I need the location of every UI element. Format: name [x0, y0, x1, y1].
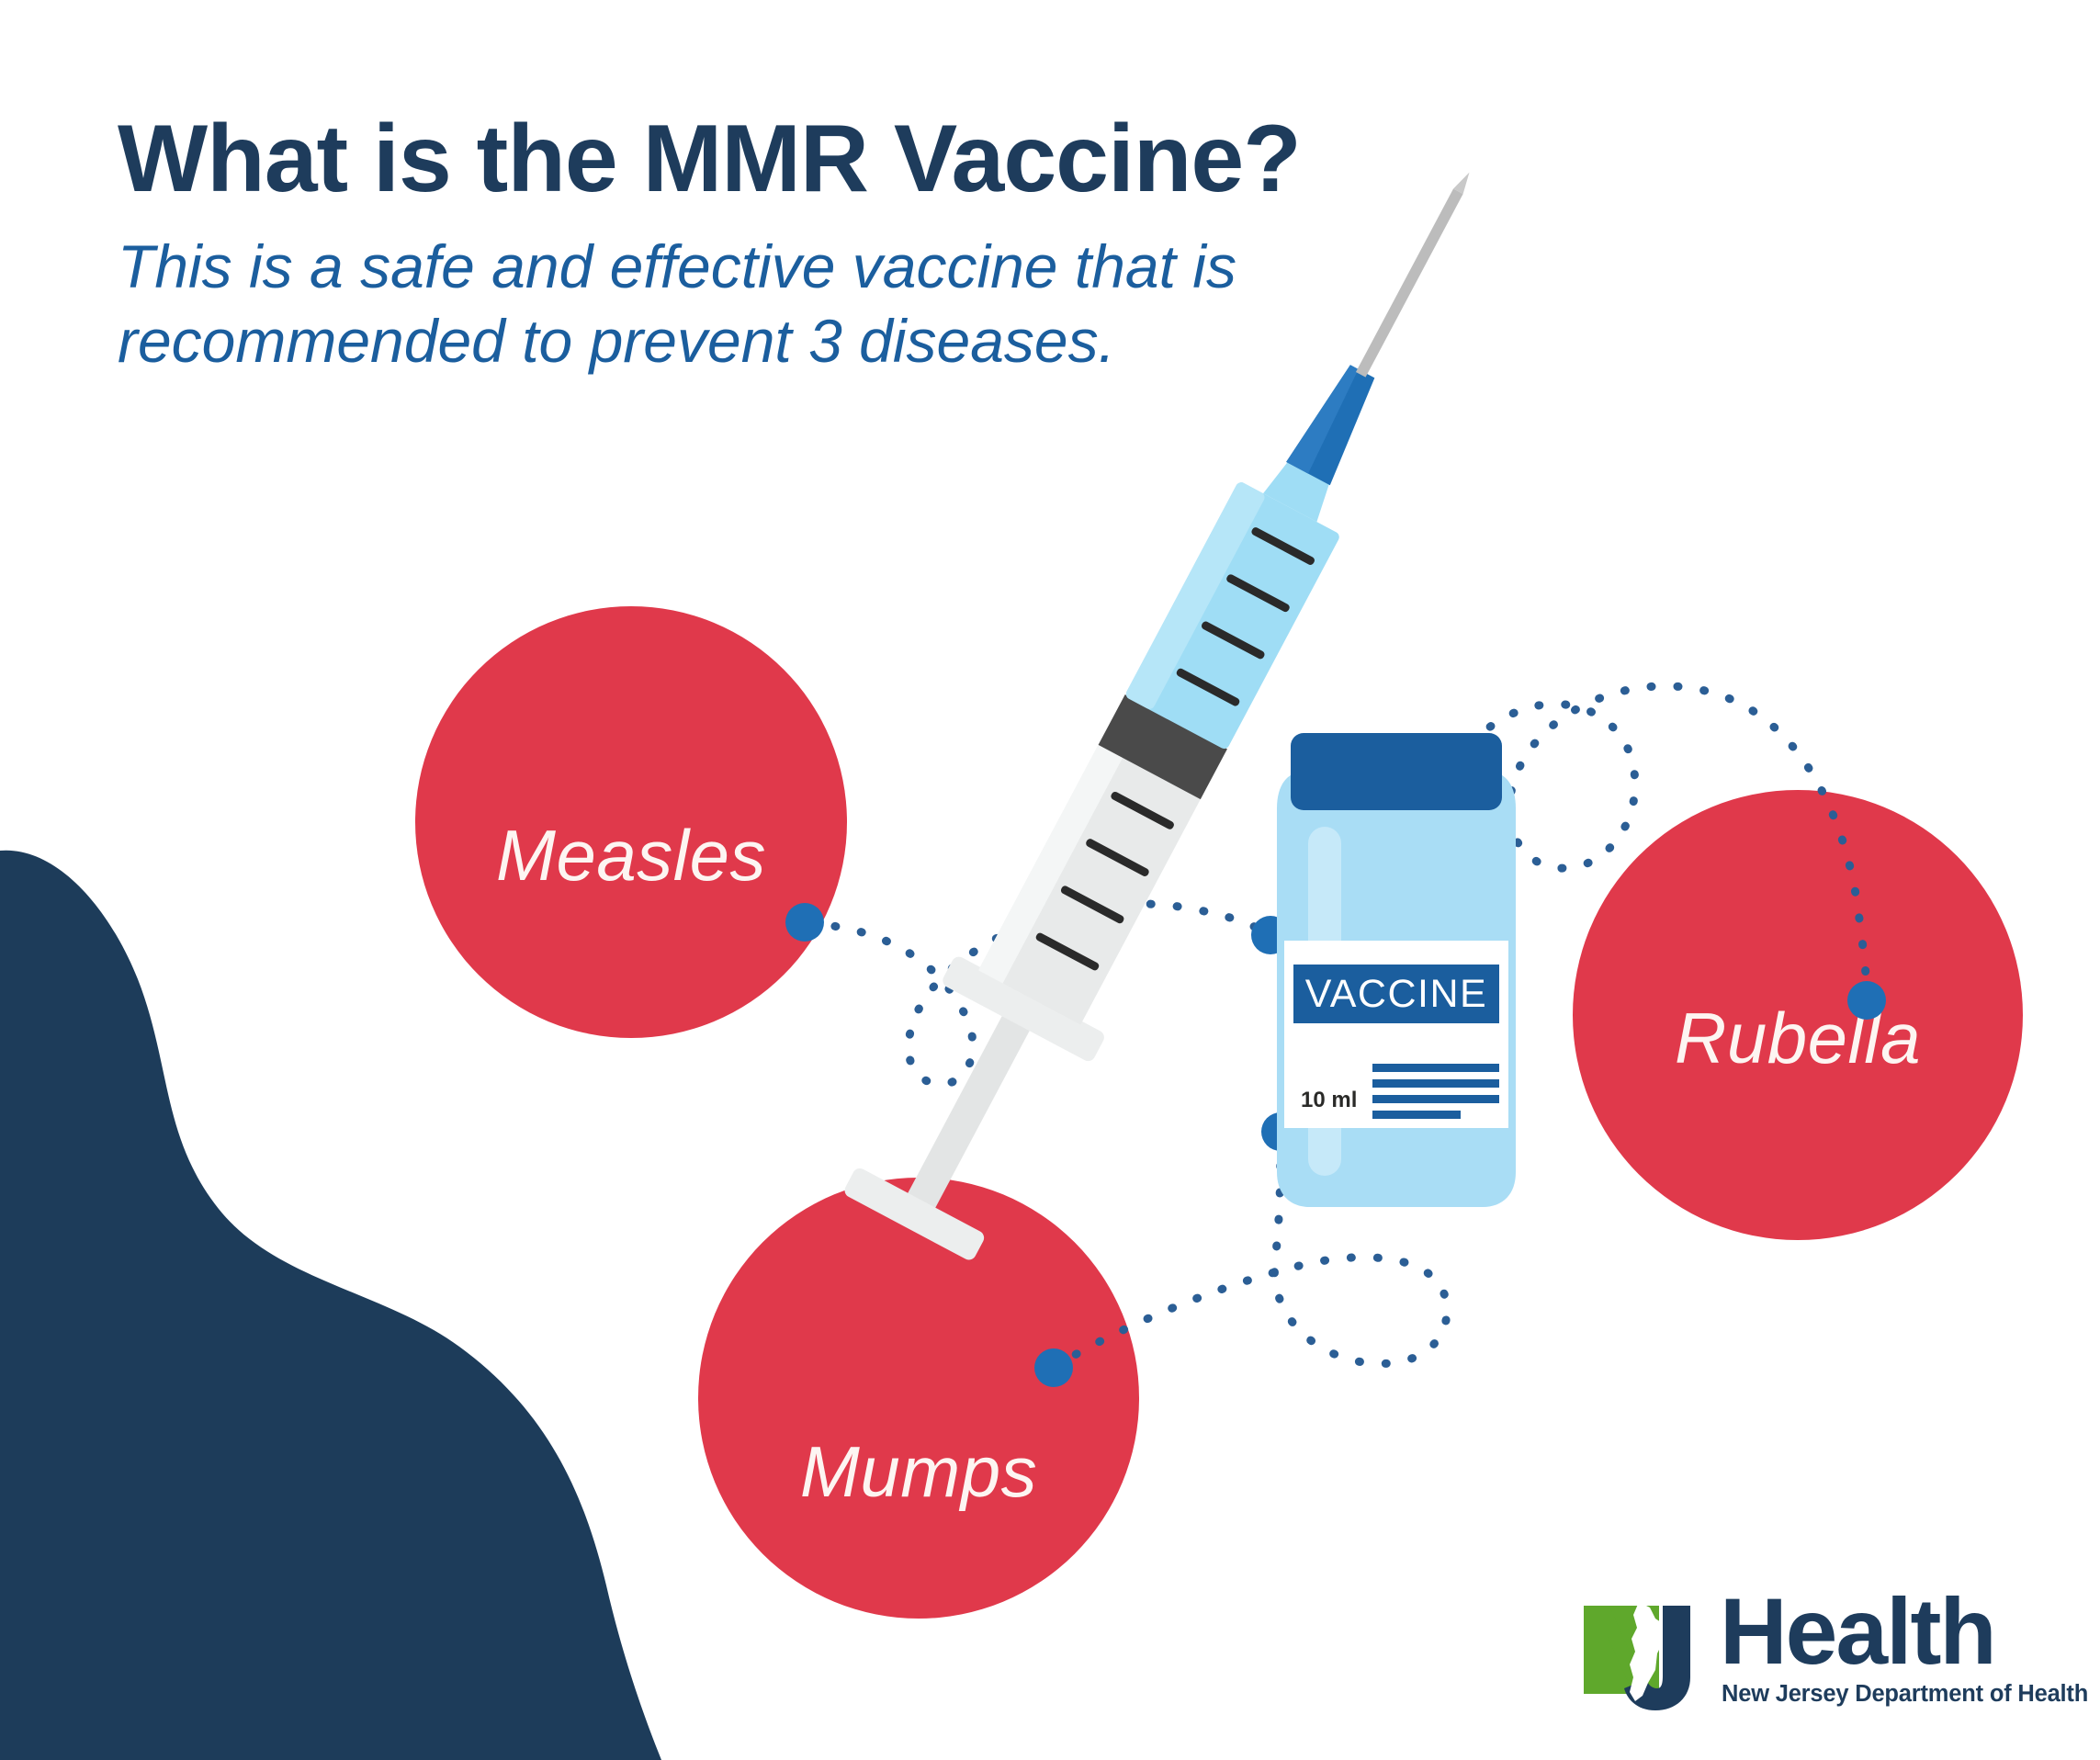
page-title: What is the MMR Vaccine?	[118, 108, 1771, 209]
disease-bubble-mumps[interactable]: Mumps	[698, 1178, 1139, 1619]
connector-dot-needle	[1399, 846, 1438, 885]
disease-label-measles: Measles	[496, 819, 766, 891]
vaccine-vial-icon: VACCINE 10 ml	[1277, 733, 1516, 1207]
vial-label-lines	[1372, 1064, 1499, 1119]
connector-dot-vial	[1261, 1112, 1300, 1151]
logo-wordmark: Health	[1720, 1589, 2088, 1675]
header-block: What is the MMR Vaccine? This is a safe …	[118, 108, 1771, 378]
infographic-canvas: What is the MMR Vaccine? This is a safe …	[0, 0, 2100, 1760]
logo-tagline: New Jersey Department of Health	[1722, 1681, 2088, 1708]
disease-bubble-measles[interactable]: Measles	[415, 606, 847, 1038]
disease-label-mumps: Mumps	[800, 1436, 1037, 1507]
vial-label-title: VACCINE	[1305, 972, 1487, 1016]
nj-state-monogram-icon	[1578, 1585, 1716, 1723]
nj-health-logo: Health New Jersey Department of Health	[1578, 1585, 2088, 1723]
disease-bubble-rubella[interactable]: Rubella	[1573, 790, 2023, 1240]
connector-dot-syringe	[1251, 916, 1290, 954]
connector-path-measles	[808, 904, 1260, 1084]
vial-volume-text: 10 ml	[1301, 1088, 1357, 1112]
disease-label-rubella: Rubella	[1675, 1002, 1921, 1074]
page-subtitle: This is a safe and effective vaccine tha…	[118, 230, 1569, 378]
